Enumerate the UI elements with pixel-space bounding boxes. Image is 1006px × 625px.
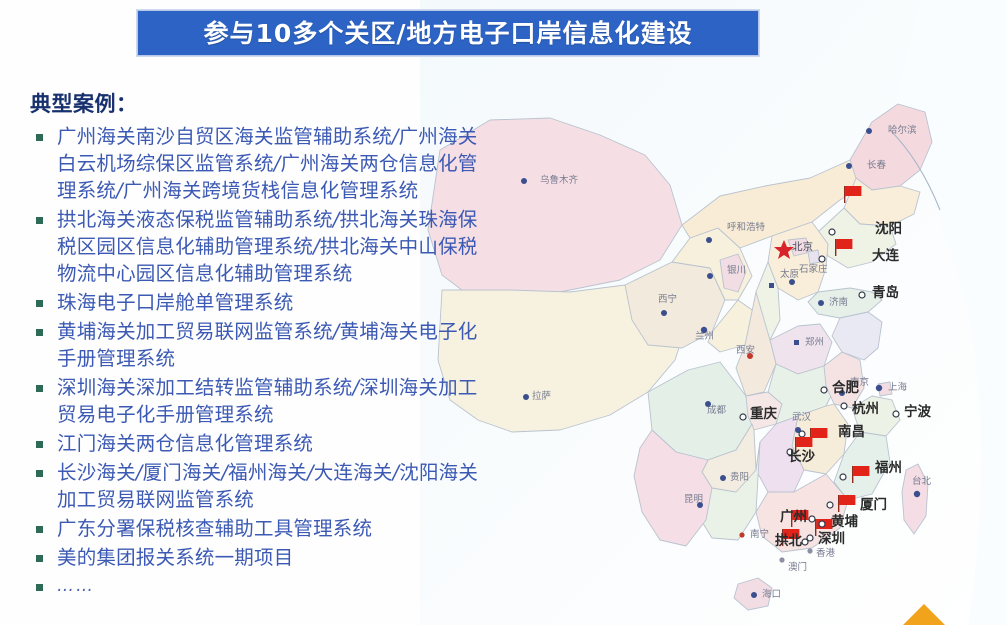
city-label-1: 长春 [867, 159, 887, 171]
corner-triangle-icon [903, 604, 945, 625]
list-item: 长沙海关/厦门海关/福州海关/大连海关/沈阳海关 加工贸易联网监管系统 [30, 459, 520, 513]
city-label-19: 南宁 [750, 528, 769, 540]
major-city-label-8: 福州 [874, 459, 902, 476]
city-label-12: 拉萨 [532, 390, 552, 402]
flag-pole-icon [852, 466, 853, 483]
bullet-marker-icon [36, 526, 43, 533]
major-city-label-9: 厦门 [860, 496, 887, 513]
city-dot-marker [827, 502, 833, 508]
major-city-label-13: 拱北 [775, 532, 803, 549]
city-dot-marker [829, 229, 835, 235]
major-city-label-5: 宁波 [904, 403, 932, 420]
list-item: 黄埔海关加工贸易联网监管系统/黄埔海关电子化 手册管理系统 [30, 318, 520, 372]
city-label-22: 香港 [816, 547, 836, 559]
list-item-label: 美的集团报关系统一期项目 [57, 544, 293, 571]
major-city-label-1: 大连 [872, 247, 900, 264]
city-label-9: 兰州 [695, 330, 714, 342]
red-flag-icon [839, 495, 855, 505]
major-city-label-11: 黄埔 [831, 513, 859, 530]
city-dot-marker [819, 256, 825, 262]
city-label-11: 郑州 [805, 336, 824, 348]
slide-canvas: 北京 [0, 0, 1006, 625]
list-item: 美的集团报关系统一期项目 [30, 544, 520, 571]
slide-title-banner: 参与10多个关区/地方电子口岸信息化建设 [136, 9, 760, 57]
bullet-marker-icon [36, 217, 43, 224]
city-dot-marker [841, 403, 847, 409]
major-city-label-2: 青岛 [872, 284, 899, 301]
city-label-7: 济南 [829, 296, 848, 308]
city-label-17: 贵阳 [730, 471, 749, 483]
city-label-2: 乌鲁木齐 [540, 174, 579, 186]
major-city-label-12: 深圳 [818, 530, 845, 547]
city-label-18: 昆明 [684, 494, 703, 505]
city-label-5: 太原 [780, 268, 799, 280]
city-label-23: 澳门 [788, 561, 807, 573]
bullet-marker-icon [36, 441, 43, 448]
list-item-label: 拱北海关液态保税监管辅助系统/拱北海关珠海保 税区园区信息化辅助管理系统/拱北海… [57, 206, 477, 287]
red-flag-icon [845, 186, 861, 196]
city-label-10: 西安 [736, 344, 755, 356]
major-city-label-4: 杭州 [852, 400, 879, 417]
flag-pole-icon [835, 239, 836, 256]
city-label-20: 海口 [762, 588, 781, 600]
page-title: 参与10多个关区/地方电子口岸信息化建设 [204, 21, 693, 46]
major-city-label-3: 合肥 [832, 379, 860, 396]
list-item: 江门海关两仓信息化管理系统 [30, 430, 520, 457]
city-label-4: 银川 [727, 264, 746, 276]
bullet-marker-icon [36, 329, 43, 336]
red-flag-icon [796, 437, 812, 447]
list-item-label: 深圳海关深加工结转监管辅助系统/深圳海关加工 贸易电子化手册管理系统 [57, 374, 477, 428]
major-city-label-14: 重庆 [750, 405, 778, 422]
city-label-14: 武汉 [792, 411, 812, 423]
list-item-label: 江门海关两仓信息化管理系统 [57, 430, 313, 457]
list-item: …… [30, 573, 520, 600]
city-dot-marker [799, 431, 805, 437]
city-label-21: 台北 [912, 475, 932, 487]
major-city-label-10: 广州 [780, 508, 807, 525]
major-city-label-7: 长沙 [788, 448, 816, 465]
case-list-panel: 典型案例： 广州海关南沙自贸区海关监管辅助系统/广州海关 白云机场综保区监管系统… [30, 92, 520, 602]
city-label-3: 呼和浩特 [727, 221, 766, 233]
bullet-marker-icon [36, 300, 43, 307]
list-item-label: 黄埔海关加工贸易联网监管系统/黄埔海关电子化 手册管理系统 [57, 318, 477, 372]
bullet-marker-icon [36, 134, 43, 141]
list-item-label: …… [57, 573, 95, 600]
list-item-label: 珠海电子口岸舱单管理系统 [57, 289, 293, 316]
city-dot-marker [819, 521, 825, 527]
bullet-marker-icon [36, 470, 43, 477]
list-item: 广东分署保税核查辅助工具管理系统 [30, 515, 520, 542]
city-dot-marker [893, 411, 899, 417]
city-label-13: 成都 [707, 404, 727, 416]
bullet-marker-icon [36, 555, 43, 562]
city-dot-marker [821, 387, 827, 393]
city-dot-marker [809, 516, 815, 522]
list-item-label: 广东分署保税核查辅助工具管理系统 [57, 515, 372, 542]
major-city-label-6: 南昌 [838, 423, 865, 440]
bullet-marker-icon [36, 584, 43, 591]
city-dot-marker [840, 474, 846, 480]
list-item: 拱北海关液态保税监管辅助系统/拱北海关珠海保 税区园区信息化辅助管理系统/拱北海… [30, 206, 520, 287]
flag-pole-icon [815, 519, 816, 536]
list-item-label: 长沙海关/厦门海关/福州海关/大连海关/沈阳海关 加工贸易联网监管系统 [57, 459, 478, 513]
list-item: 深圳海关深加工结转监管辅助系统/深圳海关加工 贸易电子化手册管理系统 [30, 374, 520, 428]
major-city-label-0: 沈阳 [875, 220, 902, 237]
list-item-label: 广州海关南沙自贸区海关监管辅助系统/广州海关 白云机场综保区监管系统/广州海关两… [57, 123, 477, 204]
bullet-marker-icon [36, 385, 43, 392]
city-dot-marker [859, 292, 865, 298]
red-flag-icon [853, 466, 869, 476]
case-bullet-list: 广州海关南沙自贸区海关监管辅助系统/广州海关 白云机场综保区监管系统/广州海关两… [30, 123, 520, 600]
list-item: 广州海关南沙自贸区海关监管辅助系统/广州海关 白云机场综保区监管系统/广州海关两… [30, 123, 520, 204]
section-heading: 典型案例： [30, 92, 520, 117]
red-flag-icon [811, 428, 827, 438]
city-dot-marker [802, 539, 808, 545]
city-label-0: 哈尔滨 [888, 124, 917, 136]
city-dot-marker [740, 414, 746, 420]
city-label-beijing: 北京 [792, 240, 813, 253]
city-label-8: 西宁 [658, 293, 677, 305]
flag-pole-icon [844, 186, 845, 203]
flag-pole-icon [838, 495, 839, 512]
city-label-16: 上海 [888, 381, 908, 393]
red-flag-icon [836, 239, 852, 249]
city-label-6: 石家庄 [799, 263, 828, 275]
list-item: 珠海电子口岸舱单管理系统 [30, 289, 520, 316]
